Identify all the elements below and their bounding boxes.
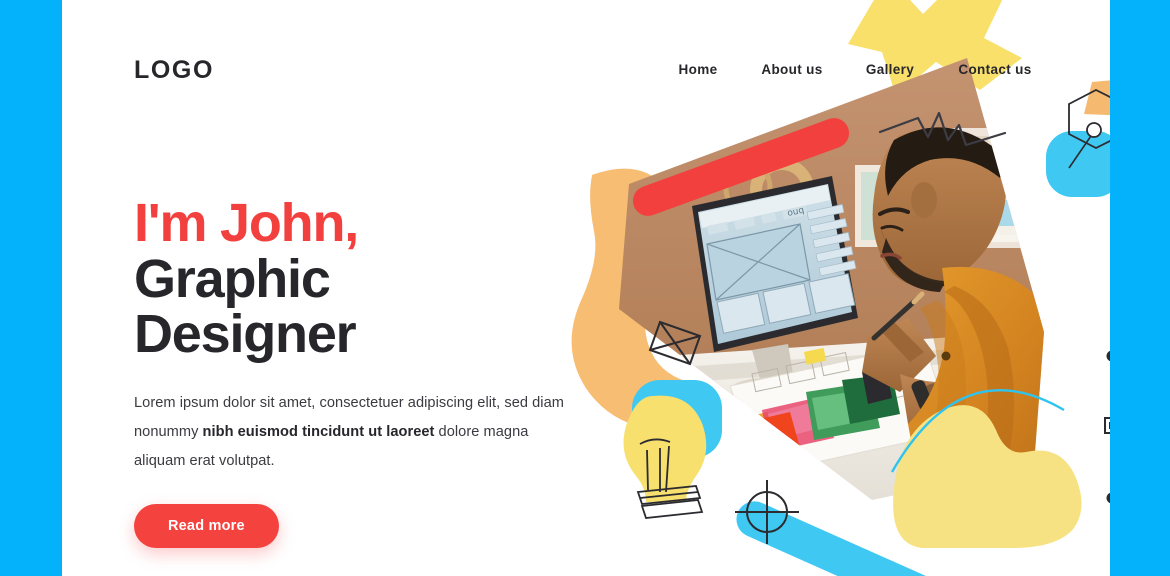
bezier-curve: [892, 390, 1064, 472]
squiggle-line: [880, 113, 1005, 145]
svg-text:ouq: ouq: [787, 206, 806, 219]
headline-line-2: Graphic Designer: [134, 252, 564, 363]
red-diagonal-bar: [629, 114, 854, 220]
orange-parallelogram: [1084, 78, 1110, 116]
yellow-blob-bottom: [893, 405, 1081, 548]
landing-page-canvas: ouq: [62, 0, 1110, 576]
nav-item-about-us[interactable]: About us: [744, 62, 840, 77]
read-more-button[interactable]: Read more: [134, 504, 279, 548]
left-edge-band: [0, 0, 62, 576]
hero-paragraph: Lorem ipsum dolor sit amet, consectetuer…: [134, 389, 564, 477]
hero-photo: ouq: [602, 40, 1069, 520]
cyan-rounded-blob-bulb: [632, 380, 722, 458]
crosshair-icon: [735, 480, 799, 544]
orange-blob-shape: [548, 159, 723, 446]
nav-item-home[interactable]: Home: [652, 62, 744, 77]
cyan-diagonal-bar: [731, 496, 1075, 576]
nav-item-gallery[interactable]: Gallery: [840, 62, 940, 77]
image-placeholder-icon: [650, 322, 700, 364]
page-title: I'm John, Graphic Designer: [134, 196, 564, 363]
cyan-rounded-blob-top: [1046, 131, 1110, 197]
hero-copy: I'm John, Graphic Designer Lorem ipsum d…: [134, 196, 564, 548]
hexagon-node-circle: [1087, 123, 1101, 137]
yellow-star-shape: [848, 0, 1022, 96]
lightbulb-icon: [624, 396, 707, 518]
headline-line-1: I'm John,: [134, 196, 564, 252]
right-edge-band: [1110, 0, 1170, 576]
hero-paragraph-bold: nibh euismod tincidunt ut laoreet: [203, 424, 435, 440]
logo[interactable]: LOGO: [134, 56, 214, 85]
main-navigation: Home About us Gallery Contact us: [652, 62, 1050, 77]
hexagon-node-line: [1069, 133, 1093, 168]
nav-item-contact-us[interactable]: Contact us: [940, 62, 1050, 77]
hexagon-outline: [1069, 90, 1110, 148]
